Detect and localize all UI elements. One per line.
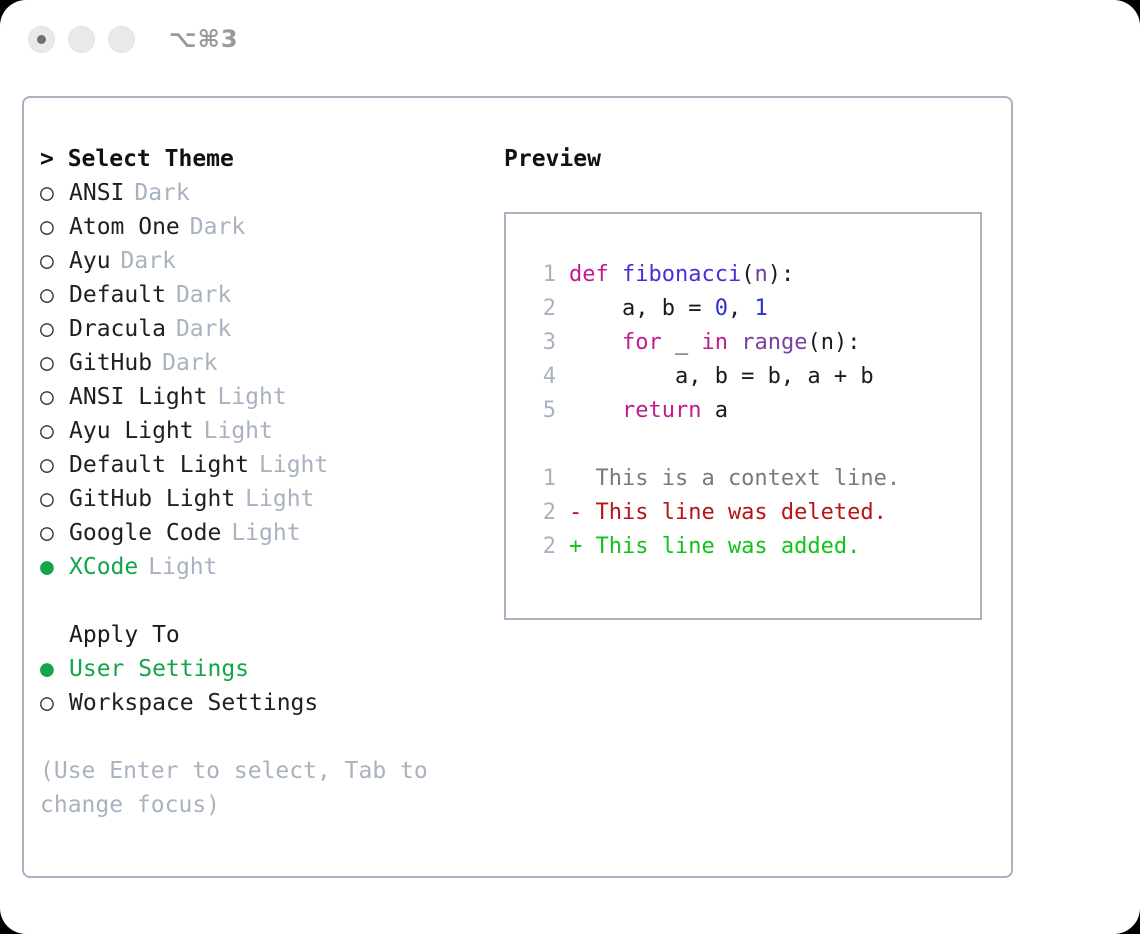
theme-option-label: ANSI Light: [69, 380, 207, 414]
radio-unselected-icon: ○: [40, 448, 69, 482]
line-number: 2: [524, 496, 556, 530]
radio-unselected-icon: ○: [40, 346, 69, 380]
token-plain: a, b = b, a + b: [569, 364, 874, 389]
token-kw: return: [622, 398, 701, 423]
theme-option-label: Default: [69, 278, 166, 312]
radio-unselected-icon: ○: [40, 380, 69, 414]
line-number: 1: [524, 462, 556, 496]
radio-selected-icon: ●: [40, 652, 69, 686]
code-line-4: 5 return a: [524, 394, 980, 428]
radio-unselected-icon: ○: [40, 686, 69, 720]
token-kw: def: [569, 262, 622, 287]
theme-option-label: GitHub: [69, 346, 152, 380]
token-plain: (: [741, 262, 754, 287]
theme-option-11[interactable]: ●XCodeLight: [40, 550, 494, 584]
line-number: 5: [524, 394, 556, 428]
theme-option-10[interactable]: ○Google CodeLight: [40, 516, 494, 550]
record-dot-icon: [37, 35, 46, 44]
token-plain: [569, 398, 622, 423]
token-num: 0: [715, 296, 728, 321]
token-del: - This line was deleted.: [569, 500, 887, 525]
code-line-2: 3 for _ in range(n):: [524, 326, 980, 360]
theme-option-label: XCode: [69, 550, 138, 584]
token-num: 1: [754, 296, 767, 321]
titlebar-button-3[interactable]: [108, 26, 135, 53]
token-ctx: This is a context line.: [569, 466, 900, 491]
line-number: 1: [524, 258, 556, 292]
radio-unselected-icon: ○: [40, 312, 69, 346]
apply-to-option-0[interactable]: ●User Settings: [40, 652, 494, 686]
app-window: ⌥⌘3 > Select Theme ○ANSIDark○Atom OneDar…: [0, 0, 1140, 934]
line-content: a, b = b, a + b: [569, 360, 874, 394]
radio-unselected-icon: ○: [40, 210, 69, 244]
theme-option-6[interactable]: ○ANSI LightLight: [40, 380, 494, 414]
line-number: 4: [524, 360, 556, 394]
token-plain: ,: [728, 296, 755, 321]
theme-option-7[interactable]: ○Ayu LightLight: [40, 414, 494, 448]
theme-variant-tag: Dark: [176, 312, 231, 346]
select-theme-heading: > Select Theme: [40, 142, 494, 176]
token-plain: [728, 330, 741, 355]
theme-option-label: Atom One: [69, 210, 180, 244]
radio-unselected-icon: ○: [40, 414, 69, 448]
token-plain: ):: [768, 262, 795, 287]
theme-picker-column: > Select Theme ○ANSIDark○Atom OneDark○Ay…: [24, 98, 494, 876]
code-line-1: 2 a, b = 0, 1: [524, 292, 980, 326]
line-number: 2: [524, 530, 556, 564]
theme-option-3[interactable]: ○DefaultDark: [40, 278, 494, 312]
spacer: [40, 584, 494, 618]
keyboard-hint: (Use Enter to select, Tab to change focu…: [40, 754, 440, 822]
theme-variant-tag: Light: [148, 550, 217, 584]
radio-selected-icon: ●: [40, 550, 69, 584]
theme-option-label: Default Light: [69, 448, 249, 482]
token-kw: for: [622, 330, 662, 355]
theme-option-label: Ayu Light: [69, 414, 194, 448]
theme-variant-tag: Dark: [162, 346, 217, 380]
theme-variant-tag: Light: [259, 448, 328, 482]
radio-unselected-icon: ○: [40, 176, 69, 210]
apply-to-list: ●User Settings○Workspace Settings: [40, 652, 494, 720]
code-spacer: [524, 428, 980, 462]
record-button[interactable]: [28, 26, 55, 53]
code-line-3: 4 a, b = b, a + b: [524, 360, 980, 394]
line-content: return a: [569, 394, 728, 428]
line-content: + This line was added.: [569, 530, 860, 564]
apply-to-option-label: Workspace Settings: [69, 686, 318, 720]
theme-option-label: GitHub Light: [69, 482, 235, 516]
radio-unselected-icon: ○: [40, 482, 69, 516]
token-plain: (n):: [807, 330, 860, 355]
token-var: n: [754, 262, 767, 287]
theme-option-label: Ayu: [69, 244, 111, 278]
line-number: 2: [524, 292, 556, 326]
theme-option-8[interactable]: ○Default LightLight: [40, 448, 494, 482]
theme-option-2[interactable]: ○AyuDark: [40, 244, 494, 278]
theme-option-label: Dracula: [69, 312, 166, 346]
traffic-light-buttons: [28, 26, 135, 53]
radio-unselected-icon: ○: [40, 244, 69, 278]
token-call: range: [741, 330, 807, 355]
apply-to-option-1[interactable]: ○Workspace Settings: [40, 686, 494, 720]
theme-variant-tag: Light: [217, 380, 286, 414]
preview-title: Preview: [504, 142, 1011, 176]
code-preview-box: 1def fibonacci(n):2 a, b = 0, 13 for _ i…: [504, 212, 982, 620]
line-content: This is a context line.: [569, 462, 900, 496]
theme-variant-tag: Light: [245, 482, 314, 516]
token-add: + This line was added.: [569, 534, 860, 559]
code-line-0: 1def fibonacci(n):: [524, 258, 980, 292]
main-panel: > Select Theme ○ANSIDark○Atom OneDark○Ay…: [22, 96, 1013, 878]
apply-to-option-label: User Settings: [69, 652, 249, 686]
theme-variant-tag: Dark: [190, 210, 245, 244]
theme-variant-tag: Dark: [176, 278, 231, 312]
theme-variant-tag: Light: [204, 414, 273, 448]
code-sample: 1def fibonacci(n):2 a, b = 0, 13 for _ i…: [524, 258, 980, 428]
theme-list: ○ANSIDark○Atom OneDark○AyuDark○DefaultDa…: [40, 176, 494, 584]
diff-line-1: 2- This line was deleted.: [524, 496, 980, 530]
radio-unselected-icon: ○: [40, 516, 69, 550]
theme-option-label: ANSI: [69, 176, 124, 210]
theme-option-4[interactable]: ○DraculaDark: [40, 312, 494, 346]
line-content: for _ in range(n):: [569, 326, 860, 360]
diff-sample: 1 This is a context line.2- This line wa…: [524, 462, 980, 564]
theme-variant-tag: Light: [231, 516, 300, 550]
apply-to-heading: Apply To: [40, 618, 494, 652]
preview-column: Preview 1def fibonacci(n):2 a, b = 0, 13…: [494, 98, 1011, 876]
titlebar-button-2[interactable]: [68, 26, 95, 53]
diff-line-0: 1 This is a context line.: [524, 462, 980, 496]
theme-variant-tag: Dark: [121, 244, 176, 278]
token-fn: fibonacci: [622, 262, 741, 287]
radio-unselected-icon: ○: [40, 278, 69, 312]
line-content: a, b = 0, 1: [569, 292, 768, 326]
theme-option-0[interactable]: ○ANSIDark: [40, 176, 494, 210]
theme-option-9[interactable]: ○GitHub LightLight: [40, 482, 494, 516]
theme-option-1[interactable]: ○Atom OneDark: [40, 210, 494, 244]
theme-option-5[interactable]: ○GitHubDark: [40, 346, 494, 380]
theme-variant-tag: Dark: [134, 176, 189, 210]
line-number: 3: [524, 326, 556, 360]
title-bar: ⌥⌘3: [0, 0, 1140, 78]
token-plain: _: [662, 330, 702, 355]
diff-line-2: 2+ This line was added.: [524, 530, 980, 564]
line-content: def fibonacci(n):: [569, 258, 794, 292]
keyboard-shortcut-label: ⌥⌘3: [169, 25, 239, 53]
token-plain: [569, 330, 622, 355]
token-plain: a: [701, 398, 728, 423]
token-plain: a, b =: [569, 296, 715, 321]
line-content: - This line was deleted.: [569, 496, 887, 530]
theme-option-label: Google Code: [69, 516, 221, 550]
token-kw: in: [701, 330, 728, 355]
